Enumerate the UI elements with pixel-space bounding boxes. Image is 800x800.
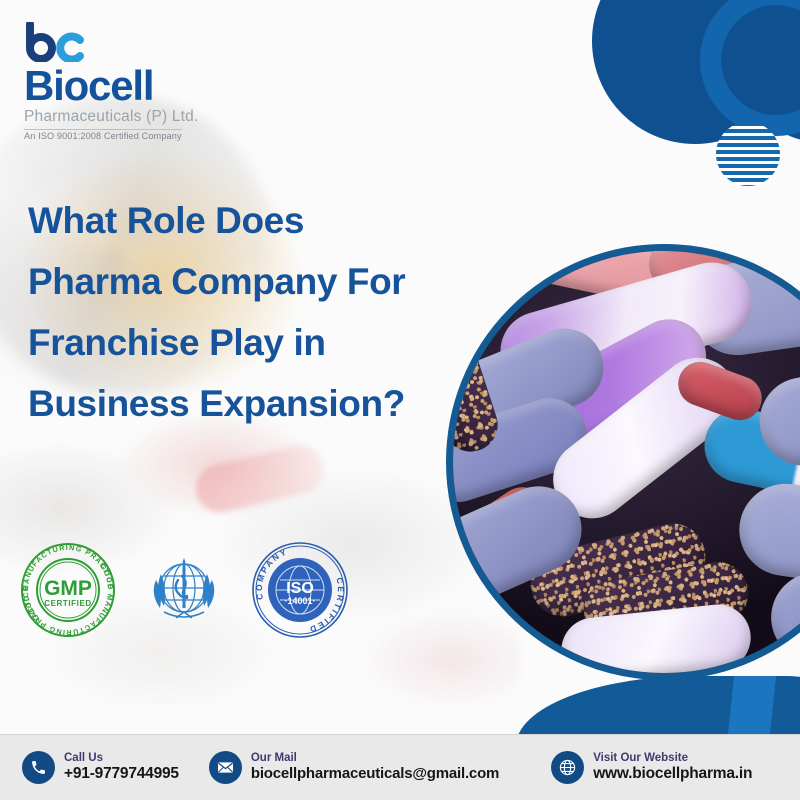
svg-text:·14001·: ·14001·: [284, 596, 315, 606]
brand-name: Biocell: [24, 65, 254, 107]
footer-call-value: +91-9779744995: [64, 765, 179, 784]
brand-logo[interactable]: Biocell Pharmaceuticals (P) Ltd. An ISO …: [24, 22, 254, 144]
svg-text:ISO: ISO: [286, 580, 314, 597]
footer-web-item[interactable]: Visit Our Website www.biocellpharma.in: [551, 751, 752, 784]
footer-call-label: Call Us: [64, 752, 179, 765]
brand-iso-line: An ISO 9001:2008 Certified Company: [24, 129, 182, 141]
envelope-icon: [209, 751, 242, 784]
headline: What Role Does Pharma Company For Franch…: [28, 190, 498, 434]
certification-badges: · GOOD MANUFACTURING PRACTICE · · GOOD M…: [18, 540, 350, 640]
footer-web-label: Visit Our Website: [593, 752, 752, 765]
footer-web-value: www.biocellpharma.in: [593, 765, 752, 784]
pill-capsules-photo: [446, 244, 800, 680]
brand-tagline: Pharmaceuticals (P) Ltd.: [24, 108, 254, 126]
headline-line-4: Business Expansion?: [28, 373, 498, 434]
who-emblem-badge: [134, 540, 234, 640]
globe-icon: [551, 751, 584, 784]
headline-line-2: Pharma Company For: [28, 251, 498, 312]
footer-mail-label: Our Mail: [251, 752, 499, 765]
svg-text:GMP: GMP: [44, 577, 92, 600]
promotional-poster: Biocell Pharmaceuticals (P) Ltd. An ISO …: [0, 0, 800, 800]
phone-icon: [22, 751, 55, 784]
decorative-circle-striped: [716, 122, 780, 186]
iso-14001-badge: ISO ·14001· CERTIFIED COMPANY: [250, 540, 350, 640]
gmp-certified-badge: · GOOD MANUFACTURING PRACTICE · · GOOD M…: [18, 540, 118, 640]
footer-call-item[interactable]: Call Us +91-9779744995: [22, 751, 179, 784]
background-pink-capsule: [191, 441, 328, 517]
footer-mail-item[interactable]: Our Mail biocellpharmaceuticals@gmail.co…: [209, 751, 499, 784]
footer-mail-value: biocellpharmaceuticals@gmail.com: [251, 765, 499, 783]
headline-line-3: Franchise Play in: [28, 312, 498, 373]
svg-text:CERTIFIED: CERTIFIED: [44, 599, 92, 608]
headline-line-1: What Role Does: [28, 190, 498, 251]
contact-footer: Call Us +91-9779744995 Our Mail biocellp…: [0, 734, 800, 800]
bc-monogram-icon: [24, 22, 90, 62]
